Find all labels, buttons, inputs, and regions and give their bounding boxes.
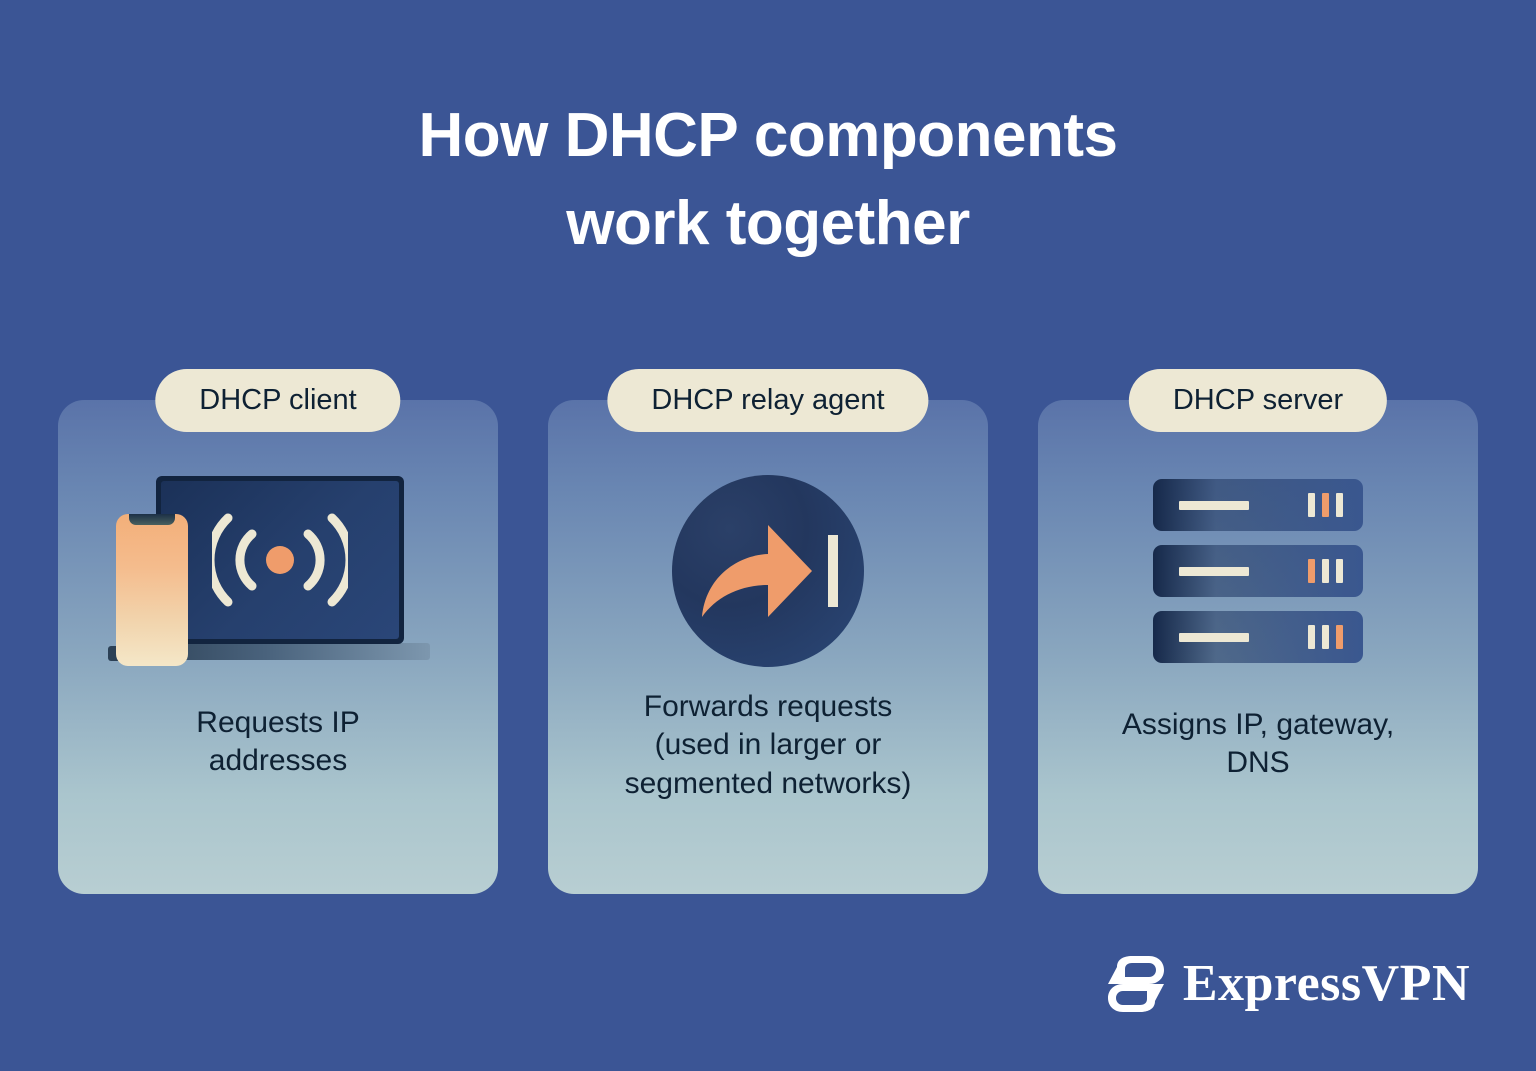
caption-line: (used in larger or (574, 726, 962, 764)
server-led (1308, 625, 1315, 649)
card-dhcp-relay-agent-caption: Forwards requests (used in larger or seg… (548, 688, 988, 803)
components-row: DHCP client (58, 400, 1478, 894)
server-stack-icon (1153, 479, 1363, 663)
page-title-line-2: work together (0, 180, 1536, 268)
server-unit (1153, 545, 1363, 597)
card-dhcp-server-pill-label: DHCP server (1129, 369, 1387, 432)
wifi-broadcast-icon (212, 508, 348, 612)
card-dhcp-client-icon-area (58, 400, 498, 700)
page-title-line-1: How DHCP components (0, 92, 1536, 180)
card-dhcp-client: DHCP client (58, 400, 498, 894)
expressvpn-wordmark: ExpressVPN (1183, 958, 1470, 1010)
server-unit (1153, 611, 1363, 663)
card-dhcp-server: DHCP server (1038, 400, 1478, 894)
server-led-active (1336, 625, 1343, 649)
card-dhcp-relay-agent: DHCP relay agent Forwards requests (used… (548, 400, 988, 894)
expressvpn-e-mark-icon (1105, 953, 1167, 1015)
server-led (1336, 559, 1343, 583)
phone-notch-icon (129, 514, 175, 525)
server-label-bar-icon (1179, 567, 1249, 576)
server-unit (1153, 479, 1363, 531)
caption-line: Assigns IP, gateway, (1064, 706, 1452, 744)
forward-arrow-icon (696, 519, 820, 623)
caption-line: segmented networks) (574, 765, 962, 803)
card-dhcp-server-icon-area (1038, 400, 1478, 700)
server-led-group (1308, 625, 1343, 649)
card-dhcp-client-caption: Requests IP addresses (58, 704, 498, 781)
caption-line: addresses (84, 742, 472, 780)
laptop-display-icon (161, 481, 399, 639)
card-dhcp-server-caption: Assigns IP, gateway, DNS (1038, 706, 1478, 783)
phone-icon (116, 514, 188, 666)
caption-line: DNS (1064, 744, 1452, 782)
server-led-group (1308, 493, 1343, 517)
server-led-group (1308, 559, 1343, 583)
forward-arrow-circle-icon (672, 475, 864, 667)
card-dhcp-relay-agent-icon-area (548, 400, 988, 700)
server-led-active (1308, 559, 1315, 583)
laptop-screen-icon (156, 476, 404, 644)
page-title: How DHCP components work together (0, 92, 1536, 268)
caption-line: Requests IP (84, 704, 472, 742)
card-dhcp-relay-agent-pill-label: DHCP relay agent (607, 369, 928, 432)
card-dhcp-client-pill-label: DHCP client (155, 369, 400, 432)
server-led (1336, 493, 1343, 517)
server-led-active (1322, 493, 1329, 517)
server-led (1308, 493, 1315, 517)
server-label-bar-icon (1179, 501, 1249, 510)
laptop-phone-wifi-icon (98, 466, 458, 676)
relay-endpoint-bar-icon (826, 535, 840, 607)
server-led (1322, 559, 1329, 583)
server-label-bar-icon (1179, 633, 1249, 642)
expressvpn-logo: ExpressVPN (1105, 953, 1470, 1015)
caption-line: Forwards requests (574, 688, 962, 726)
server-led (1322, 625, 1329, 649)
